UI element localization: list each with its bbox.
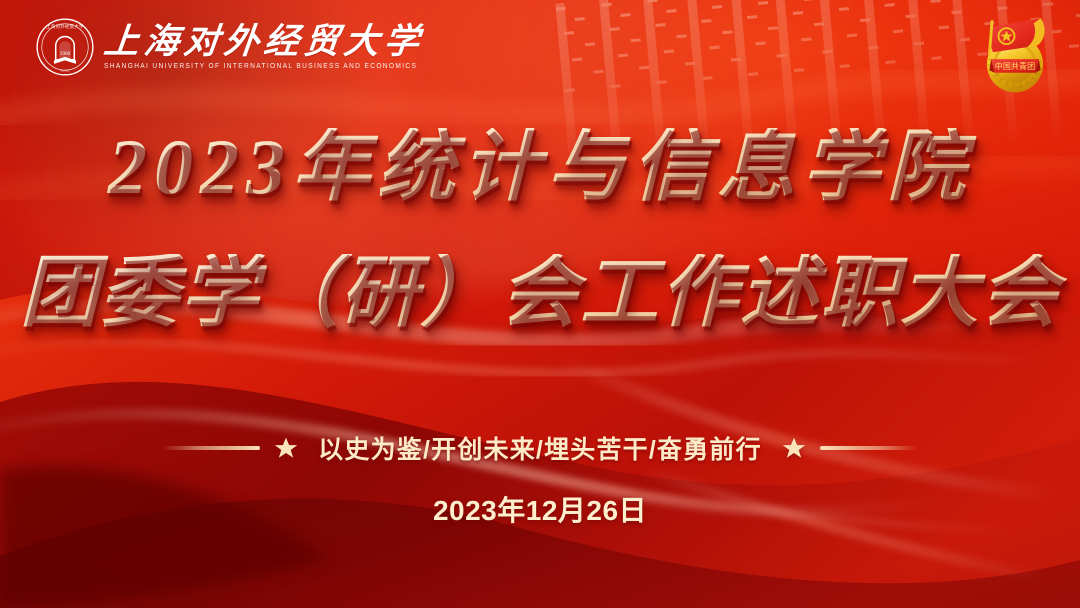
decorative-rule-right xyxy=(820,446,918,450)
banner-title: 2023年统计与信息学院 团委学（研）会工作述职大会 xyxy=(0,128,1080,332)
university-name-en: SHANGHAI UNIVERSITY OF INTERNATIONAL BUS… xyxy=(104,64,424,71)
banner-canvas: 1960 上海对外经贸大学 SUIBE 上海对外经贸大学 SHANGHAI UN… xyxy=(0,0,1080,608)
decorative-rule-left xyxy=(162,446,260,450)
star-icon-left xyxy=(274,436,298,460)
title-line-2: 团委学（研）会工作述职大会 xyxy=(0,254,1080,332)
university-logo: 1960 上海对外经贸大学 SUIBE 上海对外经贸大学 SHANGHAI UN… xyxy=(36,18,424,76)
communist-youth-league-emblem-icon: 中国共青团 xyxy=(972,8,1058,100)
svg-text:1960: 1960 xyxy=(60,51,71,57)
league-flag-text: 中国共青团 xyxy=(995,61,1035,71)
slogan-row: 以史为鉴/开创未来/埋头苦干/奋勇前行 xyxy=(0,430,1080,466)
svg-text:上海对外经贸大学: 上海对外经贸大学 xyxy=(46,23,84,30)
title-line-1: 2023年统计与信息学院 xyxy=(0,128,1080,206)
star-icon-right xyxy=(782,436,806,460)
slogan-text: 以史为鉴/开创未来/埋头苦干/奋勇前行 xyxy=(312,430,768,466)
university-seal-icon: 1960 上海对外经贸大学 SUIBE xyxy=(36,18,94,76)
university-name-cn: 上海对外经贸大学 xyxy=(102,24,426,59)
event-date: 2023年12月26日 xyxy=(0,489,1080,529)
svg-text:SUIBE: SUIBE xyxy=(60,68,69,72)
